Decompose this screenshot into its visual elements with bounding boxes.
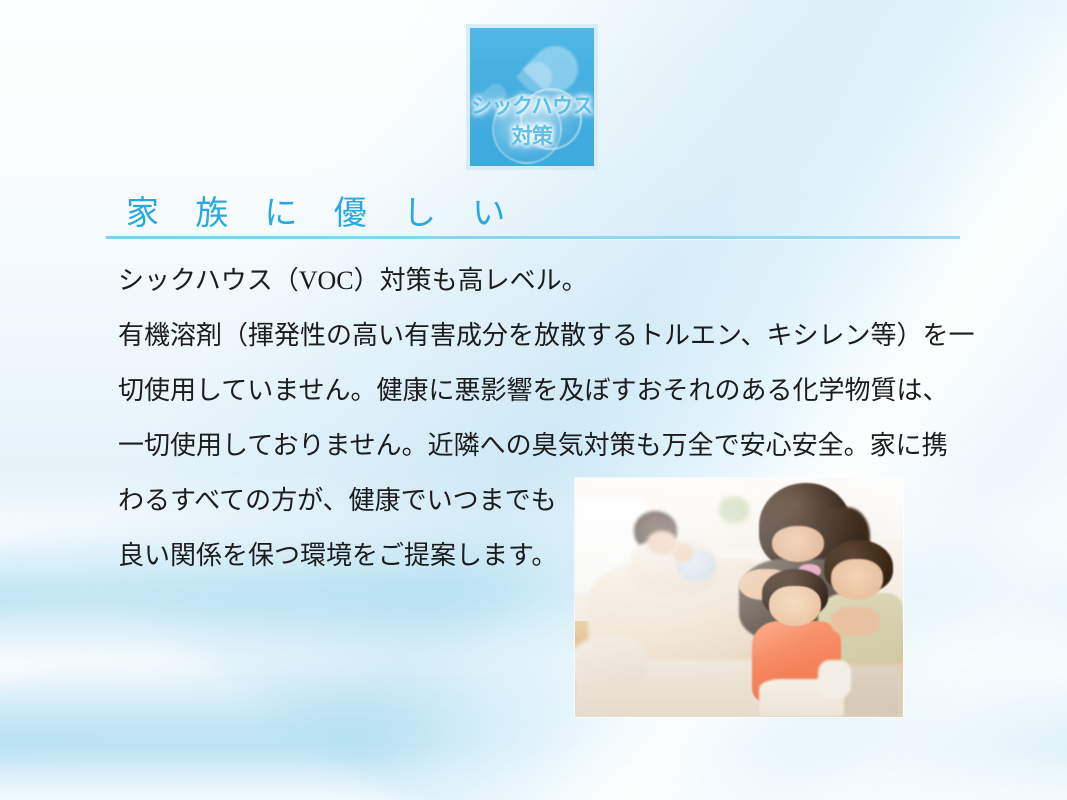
photo-mother-face [772,526,824,562]
badge-label-line1: シックハウス [470,90,594,120]
sick-house-badge: シックハウス 対策 [466,24,598,170]
slide-root: シックハウス 対策 家 族 に 優 し い シックハウス（VOC）対策も高レベル… [0,0,1067,800]
photo-younger-girl-face [769,586,821,627]
photo-younger-girl-sock [818,660,851,698]
body-line: シックハウス（VOC）対策も高レベル。 [118,253,963,308]
photo-father-face [647,531,677,555]
family-photo-content [575,478,903,717]
family-photo [575,478,903,717]
body-line: 切使用していません。健康に悪影響を及ぼすおそれのある化学物質は、 [118,363,963,418]
photo-older-girl-face [831,559,883,600]
photo-plant [719,497,749,523]
badge-label-line2: 対策 [470,120,594,150]
photo-baby-head [673,543,693,562]
title-divider [106,236,960,239]
page-title: 家 族 に 優 し い [126,186,519,234]
body-line: 一切使用しておりません。近隣への臭気対策も万全で安心安全。家に携 [118,418,963,473]
body-line: 有機溶剤（揮発性の高い有害成分を放散するトルエン、キシレン等）を一 [118,308,963,363]
photo-older-girl-arm [831,607,880,636]
photo-cushion [575,636,647,689]
